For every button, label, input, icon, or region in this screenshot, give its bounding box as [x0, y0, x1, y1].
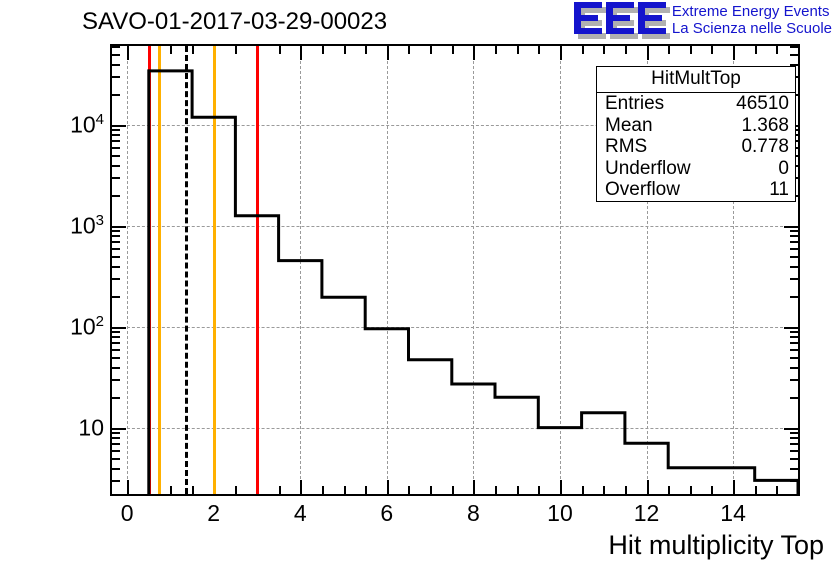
y-axis-tick: [112, 134, 120, 136]
y-axis-tick: [790, 450, 798, 452]
stats-row-key: Entries: [605, 93, 664, 115]
x-axis-tick: [603, 46, 605, 54]
x-axis-title: Hit multiplicity Top: [608, 530, 824, 561]
x-axis-tick: [755, 46, 757, 54]
x-axis-tick-label: 4: [294, 500, 307, 527]
y-axis-tick: [790, 241, 798, 243]
y-axis-tick: [112, 64, 120, 66]
x-axis-tick: [733, 46, 735, 60]
x-axis-tick: [387, 480, 389, 494]
x-axis-tick-label: 2: [207, 500, 220, 527]
threshold-high-red: [256, 46, 259, 494]
stats-row: Mean1.368: [597, 115, 795, 137]
y-axis-tick: [112, 331, 120, 333]
y-axis-tick: [112, 155, 120, 157]
y-axis-tick: [784, 428, 798, 430]
y-axis-tick: [112, 278, 120, 280]
y-axis-tick: [112, 46, 120, 48]
y-axis-tick: [112, 468, 120, 470]
y-axis-tick: [790, 432, 798, 434]
x-axis-tick: [517, 486, 519, 494]
y-axis-tick: [112, 349, 120, 351]
x-axis-tick: [279, 46, 281, 54]
threshold-high-orange: [213, 46, 216, 494]
y-axis-tick-label: 103: [70, 212, 104, 239]
y-axis-tick: [790, 331, 798, 333]
x-axis-tick: [300, 46, 302, 60]
y-axis-tick: [790, 336, 798, 338]
y-axis-tick: [790, 397, 798, 399]
x-axis-tick: [408, 46, 410, 54]
x-axis-tick: [733, 480, 735, 494]
stats-row-key: Overflow: [605, 179, 680, 201]
y-axis-tick: [112, 342, 120, 344]
y-axis-tick: [790, 266, 798, 268]
x-axis-tick: [170, 486, 172, 494]
mean-line: [185, 46, 188, 494]
x-axis-tick: [365, 46, 367, 54]
x-axis-tick: [192, 46, 194, 54]
x-axis-tick: [625, 46, 627, 54]
x-axis-tick: [430, 486, 432, 494]
y-axis-labels: 10102103104: [0, 44, 104, 496]
y-axis-tick: [112, 296, 120, 298]
grid-line-vertical: [127, 46, 128, 494]
page-title: SAVO-01-2017-03-29-00023: [82, 8, 387, 36]
x-axis-tick: [560, 46, 562, 60]
eee-logo-line-1: Extreme Energy Events: [672, 3, 832, 20]
stats-title: HitMultTop: [597, 67, 795, 93]
y-axis-tick: [112, 165, 120, 167]
x-axis-tick: [408, 486, 410, 494]
x-axis-labels: 02468101214: [0, 500, 836, 532]
x-axis-tick: [711, 486, 713, 494]
x-axis-tick: [776, 486, 778, 494]
x-axis-tick: [322, 46, 324, 54]
y-axis-tick: [790, 248, 798, 250]
x-axis-tick: [235, 486, 237, 494]
y-axis-tick: [790, 230, 798, 232]
y-axis-tick: [112, 432, 120, 434]
x-axis-tick: [538, 486, 540, 494]
y-axis-tick: [112, 367, 120, 369]
x-axis-tick: [452, 46, 454, 54]
x-axis-tick: [322, 486, 324, 494]
y-axis-tick: [112, 125, 126, 127]
x-axis-tick: [668, 486, 670, 494]
y-axis-tick: [112, 379, 120, 381]
y-axis-tick: [112, 241, 120, 243]
y-axis-tick: [790, 443, 798, 445]
y-axis-tick: [790, 235, 798, 237]
y-axis-tick: [790, 379, 798, 381]
x-axis-tick: [387, 46, 389, 60]
stats-row-value: 0.778: [741, 136, 789, 158]
y-axis-tick: [790, 342, 798, 344]
stats-row-key: Mean: [605, 115, 653, 137]
y-axis-tick: [112, 230, 120, 232]
eee-logo-line-2: La Scienza nelle Scuole: [672, 20, 832, 37]
grid-line-vertical: [300, 46, 301, 494]
x-axis-tick: [170, 46, 172, 54]
x-axis-tick-label: 10: [547, 500, 573, 527]
x-axis-tick: [430, 46, 432, 54]
y-axis-tick: [112, 226, 126, 228]
x-axis-tick: [344, 486, 346, 494]
y-axis-tick-label: 102: [70, 313, 104, 340]
x-axis-tick: [279, 486, 281, 494]
x-axis-tick: [647, 46, 649, 60]
x-axis-tick: [668, 46, 670, 54]
x-axis-tick: [192, 486, 194, 494]
y-axis-tick: [112, 76, 120, 78]
x-axis-tick: [344, 46, 346, 54]
x-axis-tick: [452, 486, 454, 494]
eee-logo-icon: [574, 2, 666, 36]
grid-line-vertical: [560, 46, 561, 494]
x-axis-tick: [582, 486, 584, 494]
y-axis-tick: [790, 468, 798, 470]
y-axis-tick: [112, 248, 120, 250]
y-axis-tick: [790, 357, 798, 359]
y-axis-tick: [112, 235, 120, 237]
stats-row-value: 11: [769, 179, 789, 201]
y-axis-tick: [112, 357, 120, 359]
stats-rows: Entries46510Mean1.368RMS0.778Underflow0O…: [597, 93, 795, 201]
y-axis-tick: [790, 480, 798, 482]
x-axis-tick: [300, 480, 302, 494]
y-axis-tick: [112, 256, 120, 258]
x-axis-tick: [127, 46, 129, 60]
y-axis-tick: [112, 336, 120, 338]
y-axis-tick: [790, 296, 798, 298]
x-axis-tick: [582, 46, 584, 54]
x-axis-tick: [495, 46, 497, 54]
x-axis-tick: [711, 46, 713, 54]
eee-logo: Extreme Energy Events La Scienza nelle S…: [574, 2, 832, 40]
stats-box: HitMultTop Entries46510Mean1.368RMS0.778…: [596, 66, 796, 202]
x-axis-tick: [690, 46, 692, 54]
y-axis-tick: [112, 94, 120, 96]
y-axis-tick: [784, 327, 798, 329]
x-axis-tick-label: 8: [467, 500, 480, 527]
x-axis-tick: [647, 480, 649, 494]
y-axis-tick-label: 104: [70, 111, 104, 138]
stats-row: Entries46510: [597, 93, 795, 115]
x-axis-tick: [127, 480, 129, 494]
x-axis-tick: [560, 480, 562, 494]
x-axis-tick-label: 6: [380, 500, 393, 527]
threshold-low-orange: [158, 46, 161, 494]
threshold-low-red: [148, 46, 151, 494]
x-axis-tick: [473, 480, 475, 494]
x-axis-tick: [365, 486, 367, 494]
y-axis-tick: [112, 428, 126, 430]
grid-line-vertical: [473, 46, 474, 494]
x-axis-tick: [235, 46, 237, 54]
y-axis-tick: [790, 349, 798, 351]
y-axis-tick: [112, 195, 120, 197]
y-axis-tick: [112, 443, 120, 445]
y-axis-tick: [790, 367, 798, 369]
stats-row-key: Underflow: [605, 158, 691, 180]
stats-row-value: 46510: [736, 93, 789, 115]
y-axis-tick: [790, 46, 798, 48]
y-axis-tick: [112, 458, 120, 460]
y-axis-tick: [790, 54, 798, 56]
x-axis-tick: [690, 486, 692, 494]
y-axis-tick: [112, 327, 126, 329]
y-axis-tick: [790, 437, 798, 439]
grid-line-vertical: [387, 46, 388, 494]
y-axis-tick: [784, 226, 798, 228]
x-axis-tick: [517, 46, 519, 54]
chart-canvas: SAVO-01-2017-03-29-00023 Extreme Energy …: [0, 0, 836, 572]
y-axis-tick: [112, 54, 120, 56]
stats-row: RMS0.778: [597, 136, 795, 158]
stats-row-value: 1.368: [741, 115, 789, 137]
y-axis-tick: [112, 480, 120, 482]
y-axis-tick: [112, 140, 120, 142]
x-axis-tick: [538, 46, 540, 54]
x-axis-tick: [603, 486, 605, 494]
y-axis-tick: [790, 278, 798, 280]
stats-row: Underflow0: [597, 158, 795, 180]
x-axis-tick-label: 0: [121, 500, 134, 527]
y-axis-tick: [112, 450, 120, 452]
x-axis-tick: [625, 486, 627, 494]
y-axis-tick-label: 10: [78, 414, 104, 441]
y-axis-tick: [112, 266, 120, 268]
x-axis-tick: [495, 486, 497, 494]
stats-row-key: RMS: [605, 136, 647, 158]
stats-row-value: 0: [778, 158, 789, 180]
y-axis-tick: [112, 147, 120, 149]
eee-logo-text: Extreme Energy Events La Scienza nelle S…: [672, 2, 832, 37]
x-axis-tick: [755, 486, 757, 494]
x-axis-tick: [776, 46, 778, 54]
y-axis-tick: [112, 177, 120, 179]
y-axis-tick: [112, 437, 120, 439]
x-axis-tick-label: 12: [634, 500, 660, 527]
y-axis-tick: [790, 256, 798, 258]
stats-row: Overflow11: [597, 179, 795, 201]
y-axis-tick: [112, 129, 120, 131]
y-axis-tick: [112, 397, 120, 399]
x-axis-tick: [473, 46, 475, 60]
x-axis-tick-label: 14: [720, 500, 746, 527]
y-axis-tick: [790, 458, 798, 460]
